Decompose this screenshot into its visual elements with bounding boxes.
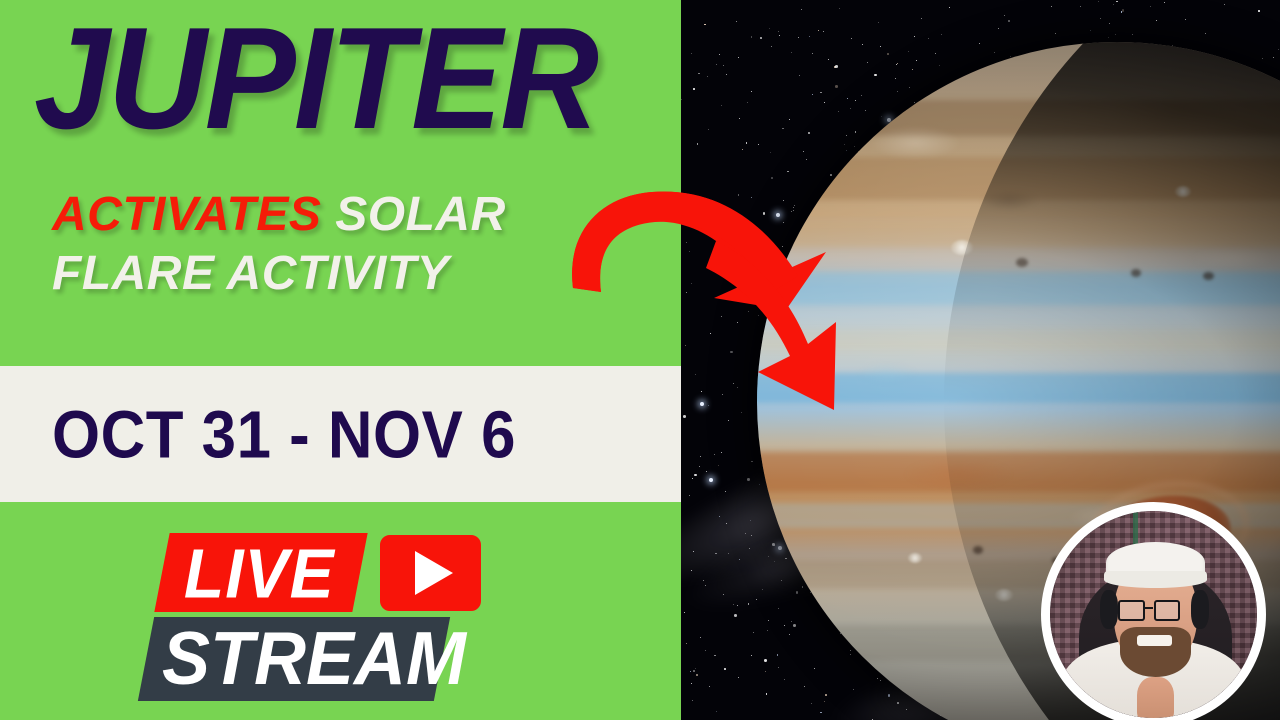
subtitle-line-1: ACTIVATES SOLAR xyxy=(0,185,681,244)
play-triangle-icon xyxy=(415,551,453,595)
page-title: JUPITER xyxy=(34,7,597,152)
play-button-icon[interactable] xyxy=(374,529,487,617)
date-range-text: OCT 31 - NOV 6 xyxy=(52,395,516,472)
stream-bar: STREAM xyxy=(138,617,450,701)
live-stream-badge[interactable]: LIVE STREAM xyxy=(152,533,552,703)
stream-label: STREAM xyxy=(162,621,466,697)
subtitle-line-2: FLARE ACTIVITY xyxy=(0,244,681,303)
subtitle-block: ACTIVATES SOLAR FLARE ACTIVITY xyxy=(0,185,681,303)
date-band: OCT 31 - NOV 6 xyxy=(0,366,681,502)
live-bar: LIVE xyxy=(154,533,367,612)
webcam-video xyxy=(1050,511,1257,718)
green-info-panel: JUPITER ACTIVATES SOLAR FLARE ACTIVITY O… xyxy=(0,0,681,720)
thumbnail-canvas: JUPITER ACTIVATES SOLAR FLARE ACTIVITY O… xyxy=(0,0,1280,720)
eyeglasses-bridge xyxy=(1145,607,1153,609)
host-webcam-overlay[interactable] xyxy=(1041,502,1266,720)
eyeglasses-lens-right xyxy=(1154,600,1181,621)
live-label: LIVE xyxy=(184,538,335,608)
subtitle-highlight: ACTIVATES xyxy=(52,188,321,241)
hands xyxy=(1137,677,1174,718)
headphone-ear-right xyxy=(1191,590,1210,629)
title-block: JUPITER xyxy=(0,0,681,168)
eyeglasses-lens-left xyxy=(1118,600,1145,621)
smile xyxy=(1137,635,1172,645)
subtitle-rest: SOLAR xyxy=(321,188,505,241)
cap-brim xyxy=(1104,571,1208,588)
headphone-ear-left xyxy=(1100,590,1119,629)
